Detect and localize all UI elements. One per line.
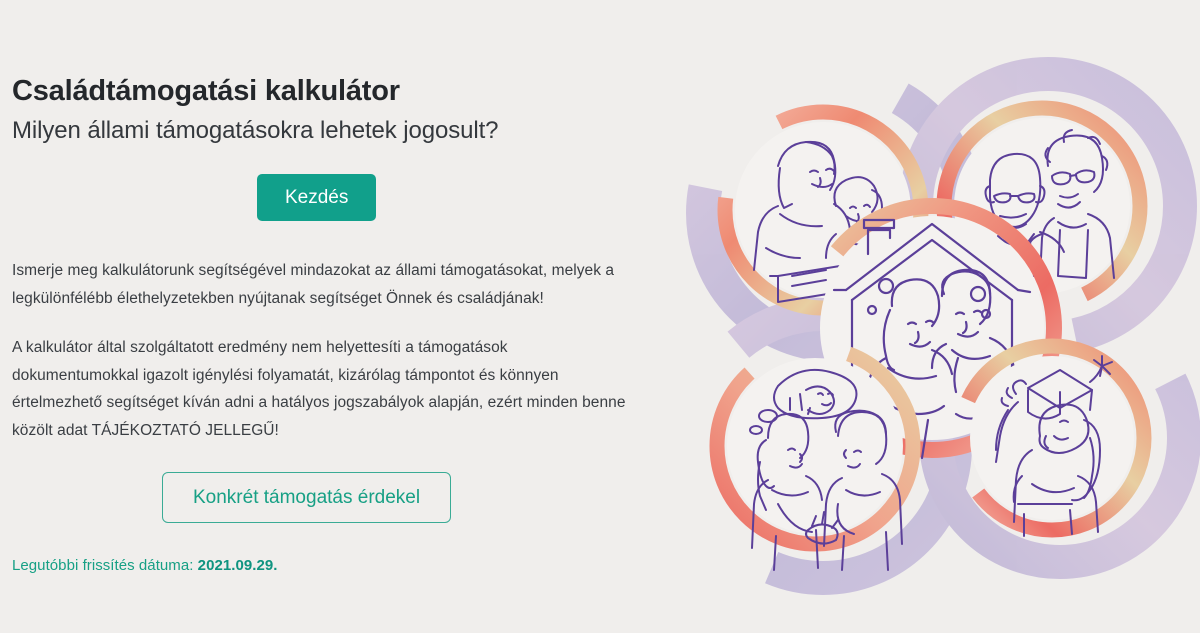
last-update-label: Legutóbbi frissítés dátuma: bbox=[12, 557, 193, 574]
last-update-date: 2021.09.29. bbox=[198, 557, 278, 574]
page-subtitle: Milyen állami támogatásokra lehetek jogo… bbox=[12, 115, 660, 146]
last-update-note: Legutóbbi frissítés dátuma: 2021.09.29. bbox=[12, 557, 660, 574]
primary-cta-row: Kezdés bbox=[12, 174, 660, 221]
landing-page: Családtámogatási kalkulátor Milyen állam… bbox=[0, 0, 1200, 633]
page-title: Családtámogatási kalkulátor bbox=[12, 74, 660, 109]
specific-support-button[interactable]: Konkrét támogatás érdekel bbox=[162, 472, 451, 523]
secondary-cta-row: Konkrét támogatás érdekel bbox=[12, 472, 660, 523]
content-column: Családtámogatási kalkulátor Milyen állam… bbox=[0, 0, 660, 574]
family-support-circles-illustration bbox=[660, 38, 1200, 598]
intro-paragraph: Ismerje meg kalkulátorunk segítségével m… bbox=[12, 257, 637, 312]
circle-graduate-throwing-cap bbox=[960, 346, 1144, 536]
circle-couple-expecting-baby bbox=[717, 348, 913, 570]
start-button[interactable]: Kezdés bbox=[257, 174, 376, 221]
intro-text-block: Ismerje meg kalkulátorunk segítségével m… bbox=[12, 257, 637, 444]
disclaimer-paragraph: A kalkulátor által szolgáltatott eredmén… bbox=[12, 334, 637, 444]
